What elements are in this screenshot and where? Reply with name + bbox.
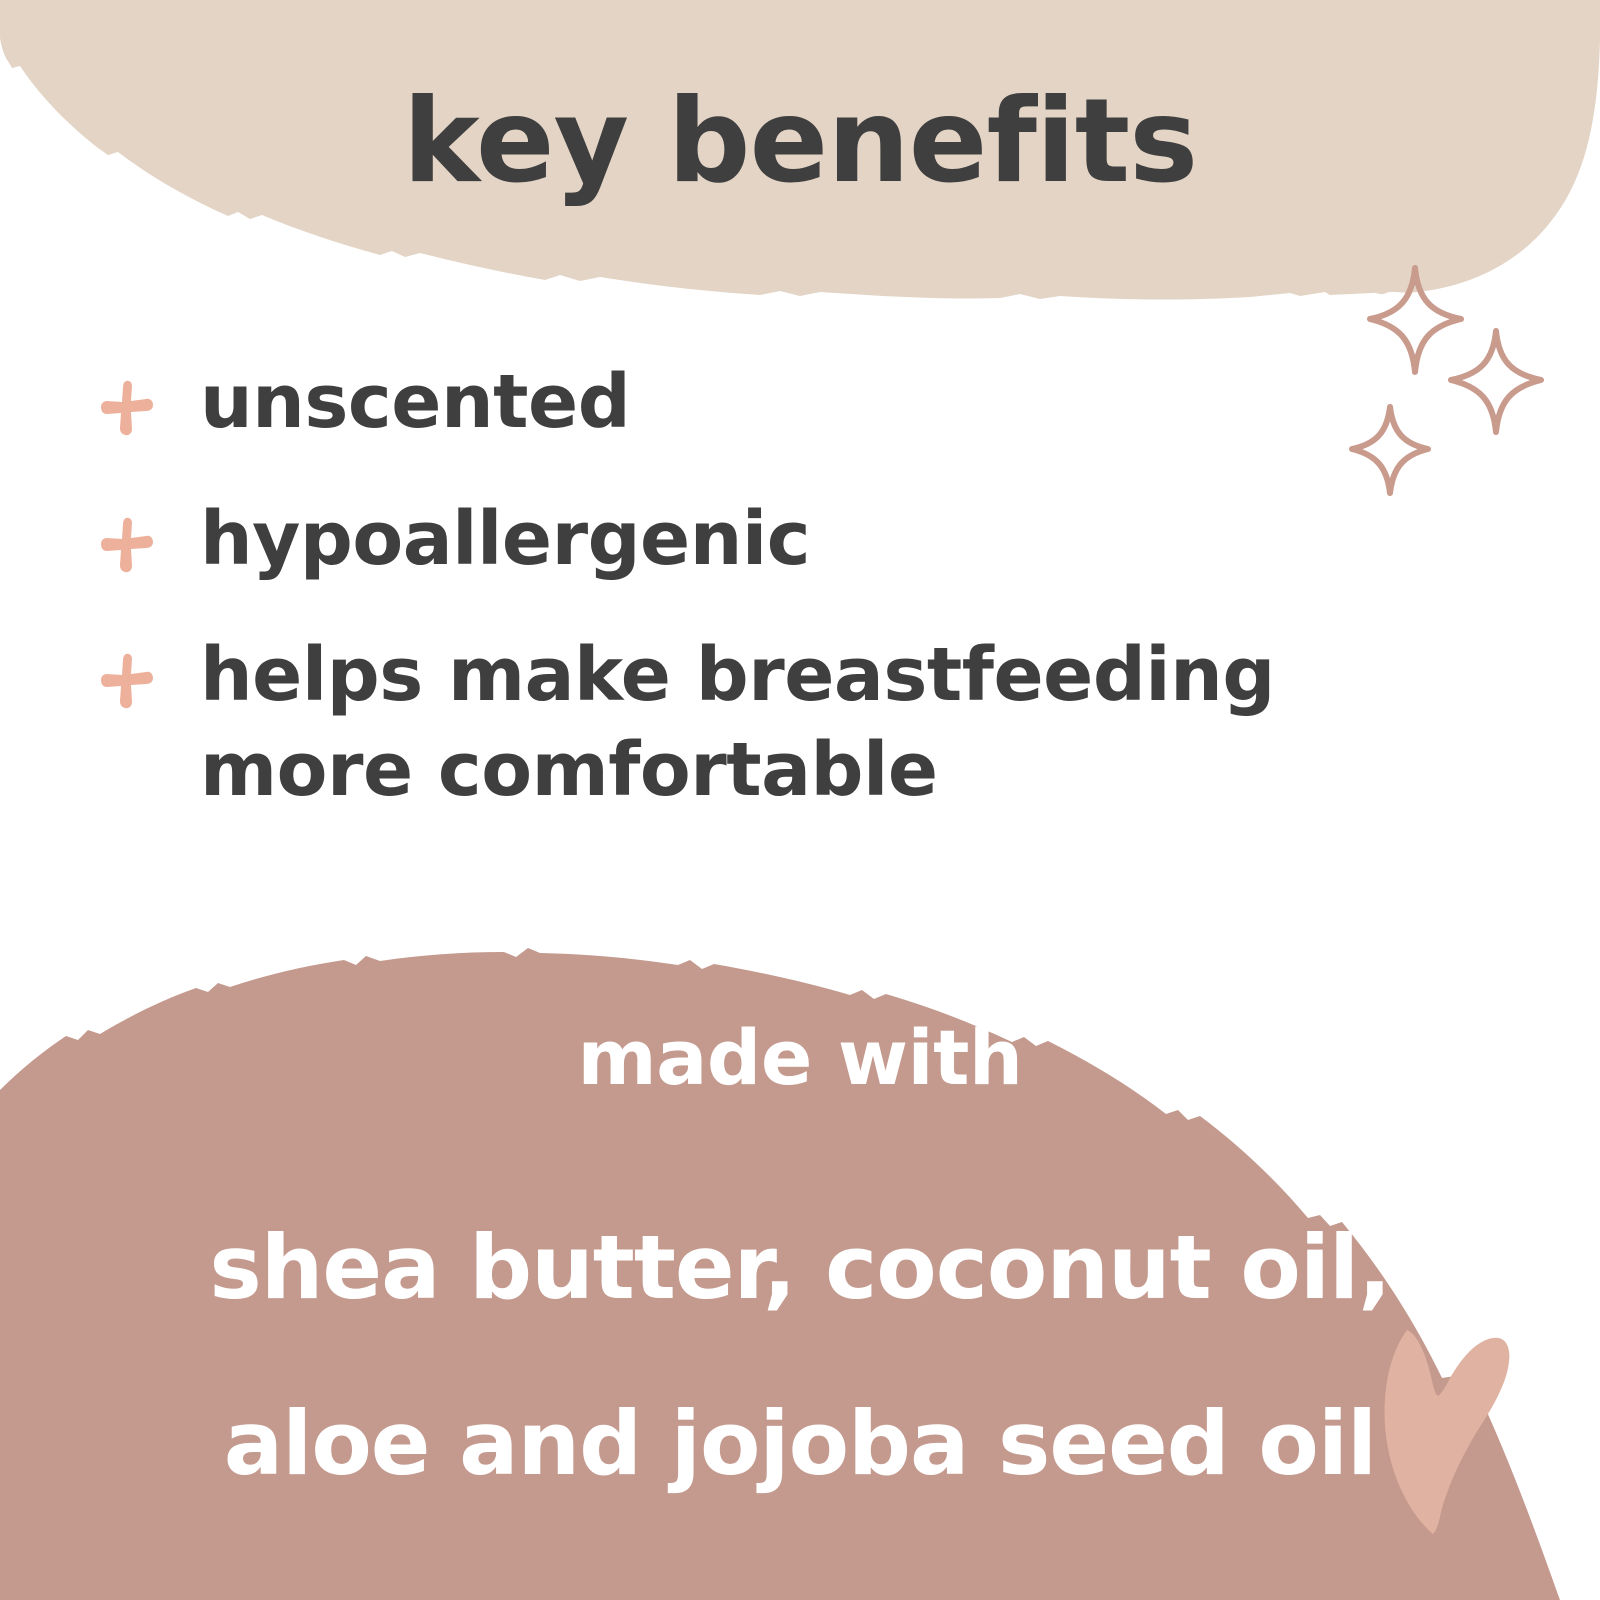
- benefits-list: unscented hypoallergenic helps make brea…: [0, 355, 1420, 860]
- list-item-label: unscented: [200, 355, 1420, 450]
- ingredient-line: aloe and jojoba seed oil: [0, 1400, 1600, 1488]
- page-title: key benefits: [0, 84, 1600, 200]
- list-item: helps make breastfeeding more comfortabl…: [0, 628, 1420, 817]
- ingredient-line: shea butter, coconut oil,: [0, 1224, 1600, 1312]
- made-with-section: made with shea butter, coconut oil, aloe…: [0, 1020, 1600, 1576]
- list-item-label: hypoallergenic: [200, 492, 1420, 587]
- plus-icon: [96, 373, 162, 443]
- plus-icon: [96, 646, 162, 716]
- ingredients-list: shea butter, coconut oil, aloe and jojob…: [0, 1224, 1600, 1488]
- plus-icon: [96, 510, 162, 580]
- list-item-label: helps make breastfeeding more comfortabl…: [200, 628, 1420, 817]
- made-with-heading: made with: [0, 1020, 1600, 1096]
- list-item: hypoallergenic: [0, 492, 1420, 587]
- key-benefits-card: key benefits unscented hypoallergenic: [0, 0, 1600, 1600]
- list-item: unscented: [0, 355, 1420, 450]
- sparkle-medium-icon: [1451, 331, 1541, 432]
